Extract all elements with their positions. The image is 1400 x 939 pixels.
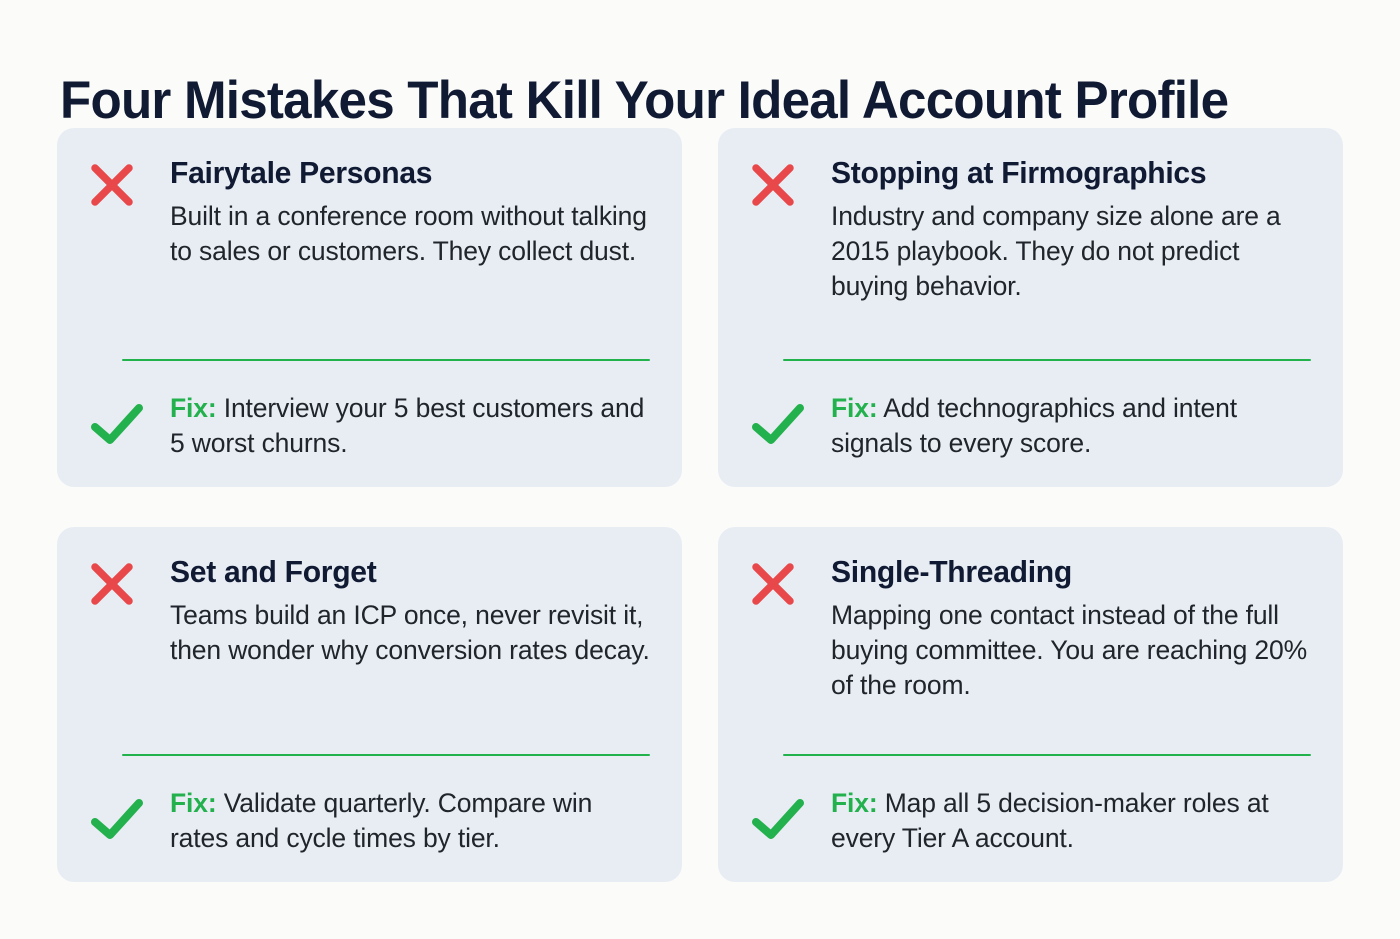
fix-description: Interview your 5 best customers and 5 wo… [170, 393, 644, 458]
x-mark-icon [89, 561, 135, 607]
mistake-text-wrap: Single-Threading Mapping one contact ins… [831, 555, 1311, 703]
card-body: Mapping one contact instead of the full … [831, 598, 1311, 704]
card-body: Built in a conference room without talki… [170, 199, 650, 269]
fix-text-wrap: Fix: Add technographics and intent signa… [831, 387, 1311, 461]
section-divider [783, 359, 1311, 361]
check-mark-icon [750, 796, 808, 842]
infographic-page: Four Mistakes That Kill Your Ideal Accou… [0, 0, 1400, 939]
x-mark-icon [750, 162, 796, 208]
fix-icon-wrap [89, 782, 170, 842]
fix-label: Fix: [170, 393, 217, 423]
fix-label: Fix: [170, 788, 217, 818]
x-mark-icon [750, 561, 796, 607]
mistake-section: Set and Forget Teams build an ICP once, … [89, 555, 650, 668]
card-heading: Set and Forget [170, 555, 636, 590]
card-body: Teams build an ICP once, never revisit i… [170, 598, 650, 668]
mistake-text-wrap: Fairytale Personas Built in a conference… [170, 156, 650, 269]
fix-section: Fix: Add technographics and intent signa… [750, 387, 1311, 461]
check-mark-icon [750, 401, 808, 447]
check-mark-icon [89, 796, 147, 842]
fix-section: Fix: Map all 5 decision-maker roles at e… [750, 782, 1311, 856]
fix-text-wrap: Fix: Validate quarterly. Compare win rat… [170, 782, 650, 856]
mistake-icon-wrap [89, 156, 170, 208]
mistake-section: Single-Threading Mapping one contact ins… [750, 555, 1311, 703]
mistake-section: Fairytale Personas Built in a conference… [89, 156, 650, 269]
page-title: Four Mistakes That Kill Your Ideal Accou… [60, 72, 1315, 129]
mistake-text-wrap: Stopping at Firmographics Industry and c… [831, 156, 1311, 304]
section-divider [122, 754, 650, 756]
mistake-card: Fairytale Personas Built in a conference… [57, 128, 682, 487]
fix-label: Fix: [831, 393, 878, 423]
mistake-card: Stopping at Firmographics Industry and c… [718, 128, 1343, 487]
fix-icon-wrap [750, 782, 831, 842]
section-divider [122, 359, 650, 361]
fix-description: Map all 5 decision-maker roles at every … [831, 788, 1269, 853]
mistake-text-wrap: Set and Forget Teams build an ICP once, … [170, 555, 650, 668]
section-divider [783, 754, 1311, 756]
mistake-icon-wrap [750, 156, 831, 208]
fix-section: Fix: Validate quarterly. Compare win rat… [89, 782, 650, 856]
mistake-icon-wrap [89, 555, 170, 607]
fix-label: Fix: [831, 788, 878, 818]
mistake-card: Set and Forget Teams build an ICP once, … [57, 527, 682, 882]
mistake-card: Single-Threading Mapping one contact ins… [718, 527, 1343, 882]
x-mark-icon [89, 162, 135, 208]
fix-icon-wrap [89, 387, 170, 447]
card-heading: Single-Threading [831, 555, 1297, 590]
fix-description: Validate quarterly. Compare win rates an… [170, 788, 592, 853]
card-body: Industry and company size alone are a 20… [831, 199, 1311, 305]
fix-description: Add technographics and intent signals to… [831, 393, 1237, 458]
fix-icon-wrap [750, 387, 831, 447]
mistake-card-grid: Fairytale Personas Built in a conference… [57, 128, 1343, 882]
fix-section: Fix: Interview your 5 best customers and… [89, 387, 650, 461]
mistake-icon-wrap [750, 555, 831, 607]
card-heading: Fairytale Personas [170, 156, 636, 191]
fix-text-wrap: Fix: Map all 5 decision-maker roles at e… [831, 782, 1311, 856]
card-heading: Stopping at Firmographics [831, 156, 1297, 191]
mistake-section: Stopping at Firmographics Industry and c… [750, 156, 1311, 304]
fix-text-wrap: Fix: Interview your 5 best customers and… [170, 387, 650, 461]
check-mark-icon [89, 401, 147, 447]
